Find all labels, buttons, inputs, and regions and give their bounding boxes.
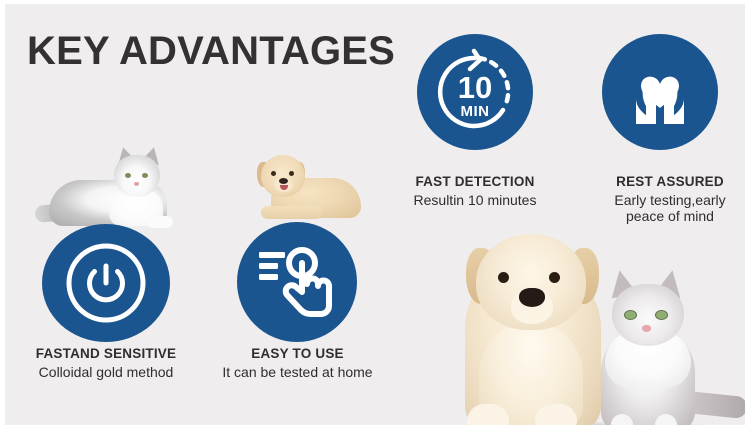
caption-fast-detection: FAST DETECTION Resultin 10 minutes [390, 174, 560, 208]
hero-cat-paw-right [655, 414, 677, 428]
cat-head [114, 155, 160, 197]
dog-head [261, 155, 305, 197]
hero-dog-chest [479, 322, 583, 428]
cat-eye-left [125, 173, 131, 178]
cat-ear-right [141, 145, 162, 165]
cat-eye-right [142, 173, 148, 178]
cat-nose [134, 182, 139, 186]
ground-shadow [459, 422, 721, 428]
feature-subtitle: Resultin 10 minutes [390, 192, 560, 209]
hero-dog-nose [519, 288, 545, 307]
hand-tap-icon[interactable] [237, 222, 357, 342]
cat-lying-icon [35, 144, 185, 230]
dog-eye-left [271, 171, 276, 176]
dog-ear-right [292, 162, 305, 187]
feature-subtitle: It can be tested at home [195, 364, 400, 381]
caption-fast-and-sensitive: FASTAND SENSITIVE Colloidal gold method [5, 346, 207, 380]
cat-body [49, 180, 167, 226]
cat-tail [34, 202, 81, 223]
dog-ear-left [257, 162, 270, 187]
hands-holding-heart-icon[interactable] [602, 34, 718, 150]
feature-subtitle-line-1: Early testing,early [580, 192, 750, 209]
hero-dog-head [476, 234, 586, 330]
hero-dog-snout [511, 288, 553, 324]
hero-dog-ear-right [569, 248, 599, 304]
cat-chest [109, 190, 163, 226]
cat-paw [147, 216, 173, 228]
hero-dog-paw-left [467, 404, 509, 428]
feature-title: FASTAND SENSITIVE [5, 346, 207, 362]
hero-dog-eye-left [498, 272, 509, 283]
feature-title: REST ASSURED [580, 174, 750, 190]
caption-easy-to-use: EASY TO USE It can be tested at home [195, 346, 400, 380]
hero-cat-nose [642, 325, 651, 332]
dog-body [271, 178, 361, 218]
hero-cat-ear-right [655, 268, 685, 298]
golden-retriever-and-gray-cat-photo [449, 226, 750, 428]
timer-value: 10 [458, 70, 492, 105]
feature-title: FAST DETECTION [390, 174, 560, 190]
key-advantages-poster: KEY ADVANTAGES [0, 0, 750, 428]
hero-dog-eye-right [549, 272, 560, 283]
dog-legs [261, 206, 323, 219]
hero-cat-paw-left [611, 414, 633, 428]
hero-cat-tail [684, 391, 748, 419]
hero-dog-body [465, 262, 601, 428]
hero-dog-paw-right [535, 404, 577, 428]
hero-cat-ear-left [607, 268, 637, 298]
feature-title: EASY TO USE [195, 346, 400, 362]
ten-minute-timer-icon[interactable]: 10 MIN [417, 34, 533, 150]
hero-cat-eye-right [655, 310, 668, 320]
hero-cat-eye-left [624, 310, 637, 320]
hero-cat-head [612, 284, 684, 346]
dog-mouth [280, 185, 288, 190]
dog-snout [274, 178, 293, 192]
dog-lying-icon [245, 152, 363, 224]
feature-subtitle-line-2: peace of mind [580, 208, 750, 225]
hero-cat-body [601, 326, 695, 428]
page-title: KEY ADVANTAGES [27, 30, 395, 72]
caption-rest-assured: REST ASSURED Early testing,early peace o… [580, 174, 750, 225]
power-button-icon[interactable] [42, 224, 170, 342]
dog-nose [279, 178, 288, 184]
timer-unit: MIN [461, 103, 490, 120]
hero-cat-ruff [605, 330, 691, 388]
feature-subtitle: Colloidal gold method [5, 364, 207, 381]
hero-dog-ear-left [466, 248, 496, 304]
cat-ear-left [114, 145, 135, 165]
dog-eye-right [289, 171, 294, 176]
